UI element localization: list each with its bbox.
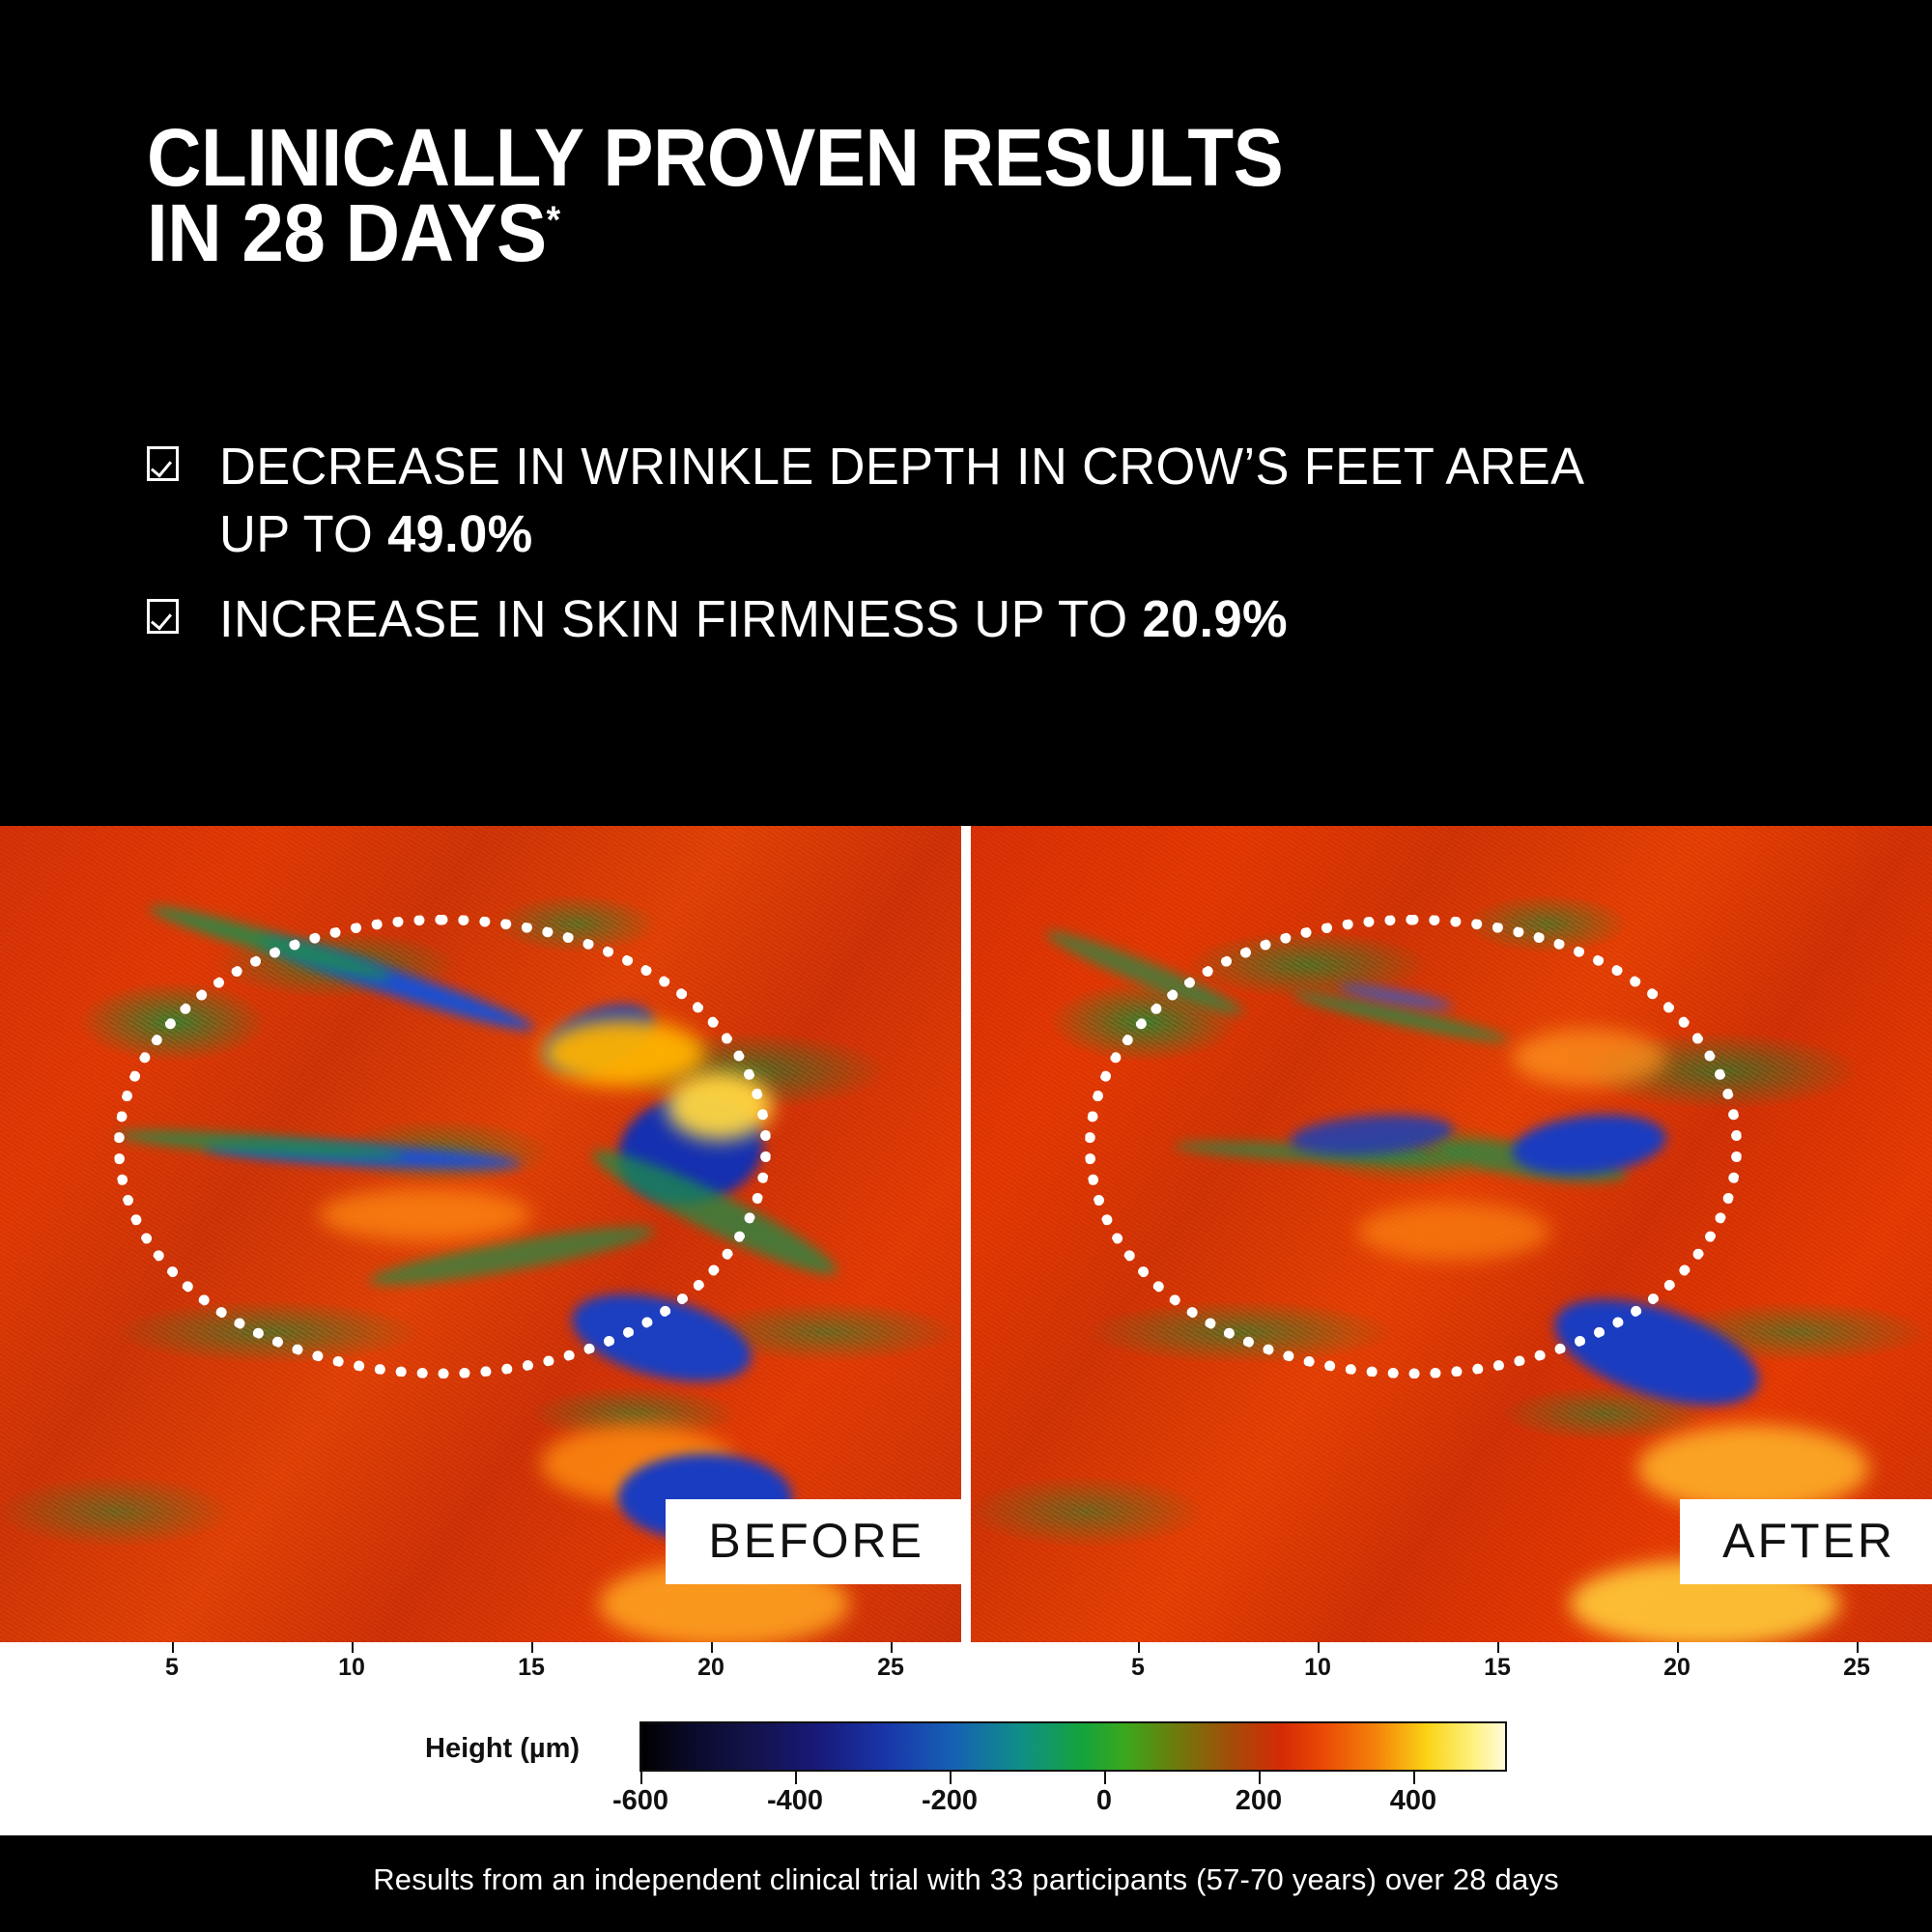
axis-tick-label: 10 bbox=[338, 1654, 365, 1682]
axis-tick-label: 20 bbox=[697, 1654, 724, 1682]
axis-tick-label: 15 bbox=[1484, 1654, 1511, 1682]
checkbox-checked-icon bbox=[147, 446, 179, 481]
axis-tick bbox=[172, 1642, 174, 1653]
colorbar-tick-label: -200 bbox=[922, 1785, 978, 1817]
headline-line-2-text: IN 28 DAYS bbox=[147, 187, 547, 278]
colorbar-tick bbox=[1104, 1772, 1106, 1784]
claim-text: INCREASE IN SKIN FIRMNESS UP TO 20.9% bbox=[219, 585, 1756, 653]
colorbar-tick-label: 200 bbox=[1236, 1785, 1282, 1817]
headline-line-2: IN 28 DAYS* bbox=[147, 195, 1728, 270]
axis-tick bbox=[1677, 1642, 1679, 1653]
axis-tick-label: 25 bbox=[877, 1654, 904, 1682]
claim-value: 20.9% bbox=[1142, 590, 1287, 648]
axis-tick-label: 15 bbox=[518, 1654, 545, 1682]
axis-tick bbox=[531, 1642, 533, 1653]
region-of-interest-ellipse bbox=[1085, 915, 1742, 1378]
axis-tick bbox=[891, 1642, 893, 1653]
axis-tick bbox=[711, 1642, 713, 1653]
footnote-text: Results from an independent clinical tri… bbox=[0, 1862, 1932, 1897]
panel-label-after: AFTER bbox=[1680, 1499, 1932, 1584]
x-axis-before: 5 10 15 20 25 bbox=[0, 1642, 966, 1712]
claims-list: DECREASE IN WRINKLE DEPTH IN CROW’S FEET… bbox=[147, 433, 1866, 670]
list-item: DECREASE IN WRINKLE DEPTH IN CROW’S FEET… bbox=[147, 433, 1866, 568]
skin-topography-comparison: BEFORE AFTER bbox=[0, 826, 1932, 1642]
panel-after: AFTER bbox=[971, 826, 1932, 1642]
footer: Results from an independent clinical tri… bbox=[0, 1835, 1932, 1932]
colorbar-tick bbox=[1259, 1772, 1261, 1784]
panel-label-text: BEFORE bbox=[708, 1514, 924, 1568]
colorbar-tick bbox=[640, 1772, 642, 1784]
panel-before: BEFORE bbox=[0, 826, 961, 1642]
panel-label-text: AFTER bbox=[1722, 1514, 1895, 1568]
axis-tick bbox=[352, 1642, 354, 1653]
colorbar-tick-label: -400 bbox=[767, 1785, 823, 1817]
claim-value: 49.0% bbox=[387, 505, 532, 563]
axis-tick-label: 5 bbox=[165, 1654, 179, 1682]
colorbar-gradient bbox=[639, 1721, 1507, 1772]
x-axis-after: 5 10 15 20 25 bbox=[966, 1642, 1932, 1712]
axis-tick bbox=[1857, 1642, 1859, 1653]
colorbar-tick-label: 0 bbox=[1096, 1785, 1112, 1817]
axis-tick bbox=[1318, 1642, 1320, 1653]
colorbar-tick bbox=[950, 1772, 952, 1784]
headline-asterisk: * bbox=[547, 199, 560, 241]
colorbar-label: Height (µm) bbox=[425, 1733, 580, 1765]
axis-tick-label: 20 bbox=[1663, 1654, 1690, 1682]
colorbar-tick-label: 400 bbox=[1390, 1785, 1436, 1817]
claim-text-lead: INCREASE IN SKIN FIRMNESS UP TO bbox=[219, 590, 1142, 648]
colorbar-tick-label: -600 bbox=[612, 1785, 668, 1817]
promo-results-card: CLINICALLY PROVEN RESULTS IN 28 DAYS* DE… bbox=[0, 0, 1932, 1932]
checkbox-checked-icon bbox=[147, 599, 179, 634]
x-axis-strip: 5 10 15 20 25 5 10 15 20 25 bbox=[0, 1642, 1932, 1712]
axis-tick bbox=[1138, 1642, 1140, 1653]
list-item: INCREASE IN SKIN FIRMNESS UP TO 20.9% bbox=[147, 585, 1866, 653]
axis-tick-label: 5 bbox=[1131, 1654, 1145, 1682]
panel-divider bbox=[961, 826, 971, 1642]
headline-line-1: CLINICALLY PROVEN RESULTS bbox=[147, 120, 1728, 195]
colorbar-legend: Height (µm) -600 -400 -200 0 200 400 bbox=[0, 1712, 1932, 1835]
region-of-interest-ellipse bbox=[114, 915, 771, 1378]
colorbar-tick bbox=[795, 1772, 797, 1784]
claim-text: DECREASE IN WRINKLE DEPTH IN CROW’S FEET… bbox=[219, 433, 1606, 568]
page-title: CLINICALLY PROVEN RESULTS IN 28 DAYS* bbox=[147, 120, 1847, 270]
axis-tick-label: 25 bbox=[1843, 1654, 1870, 1682]
axis-tick bbox=[1497, 1642, 1499, 1653]
colorbar-tick bbox=[1413, 1772, 1415, 1784]
axis-tick-label: 10 bbox=[1304, 1654, 1331, 1682]
panel-label-before: BEFORE bbox=[666, 1499, 961, 1584]
